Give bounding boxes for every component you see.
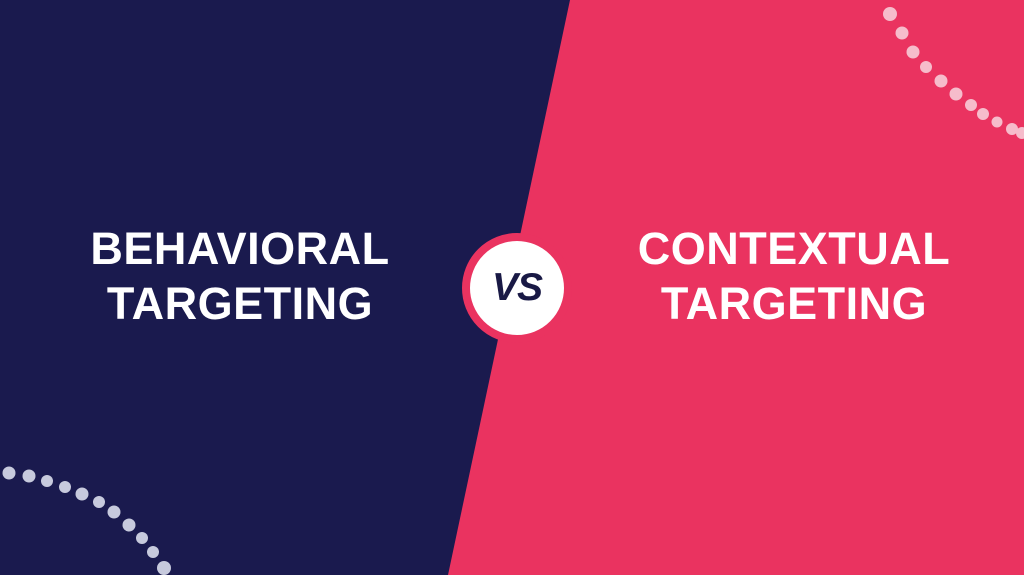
left-heading-line-2: TARGETING [26, 277, 454, 332]
right-heading-line-2: TARGETING [584, 277, 1004, 332]
left-heading-line-1: BEHAVIORAL [26, 222, 454, 277]
left-heading: BEHAVIORAL TARGETING [26, 222, 454, 332]
versus-label: VS [492, 268, 542, 307]
right-heading-line-1: CONTEXTUAL [584, 222, 1004, 277]
right-heading: CONTEXTUAL TARGETING [584, 222, 1004, 332]
versus-badge: VS [462, 233, 572, 343]
versus-slide: BEHAVIORAL TARGETING VS CONTEXTUAL TARGE… [0, 0, 1024, 575]
